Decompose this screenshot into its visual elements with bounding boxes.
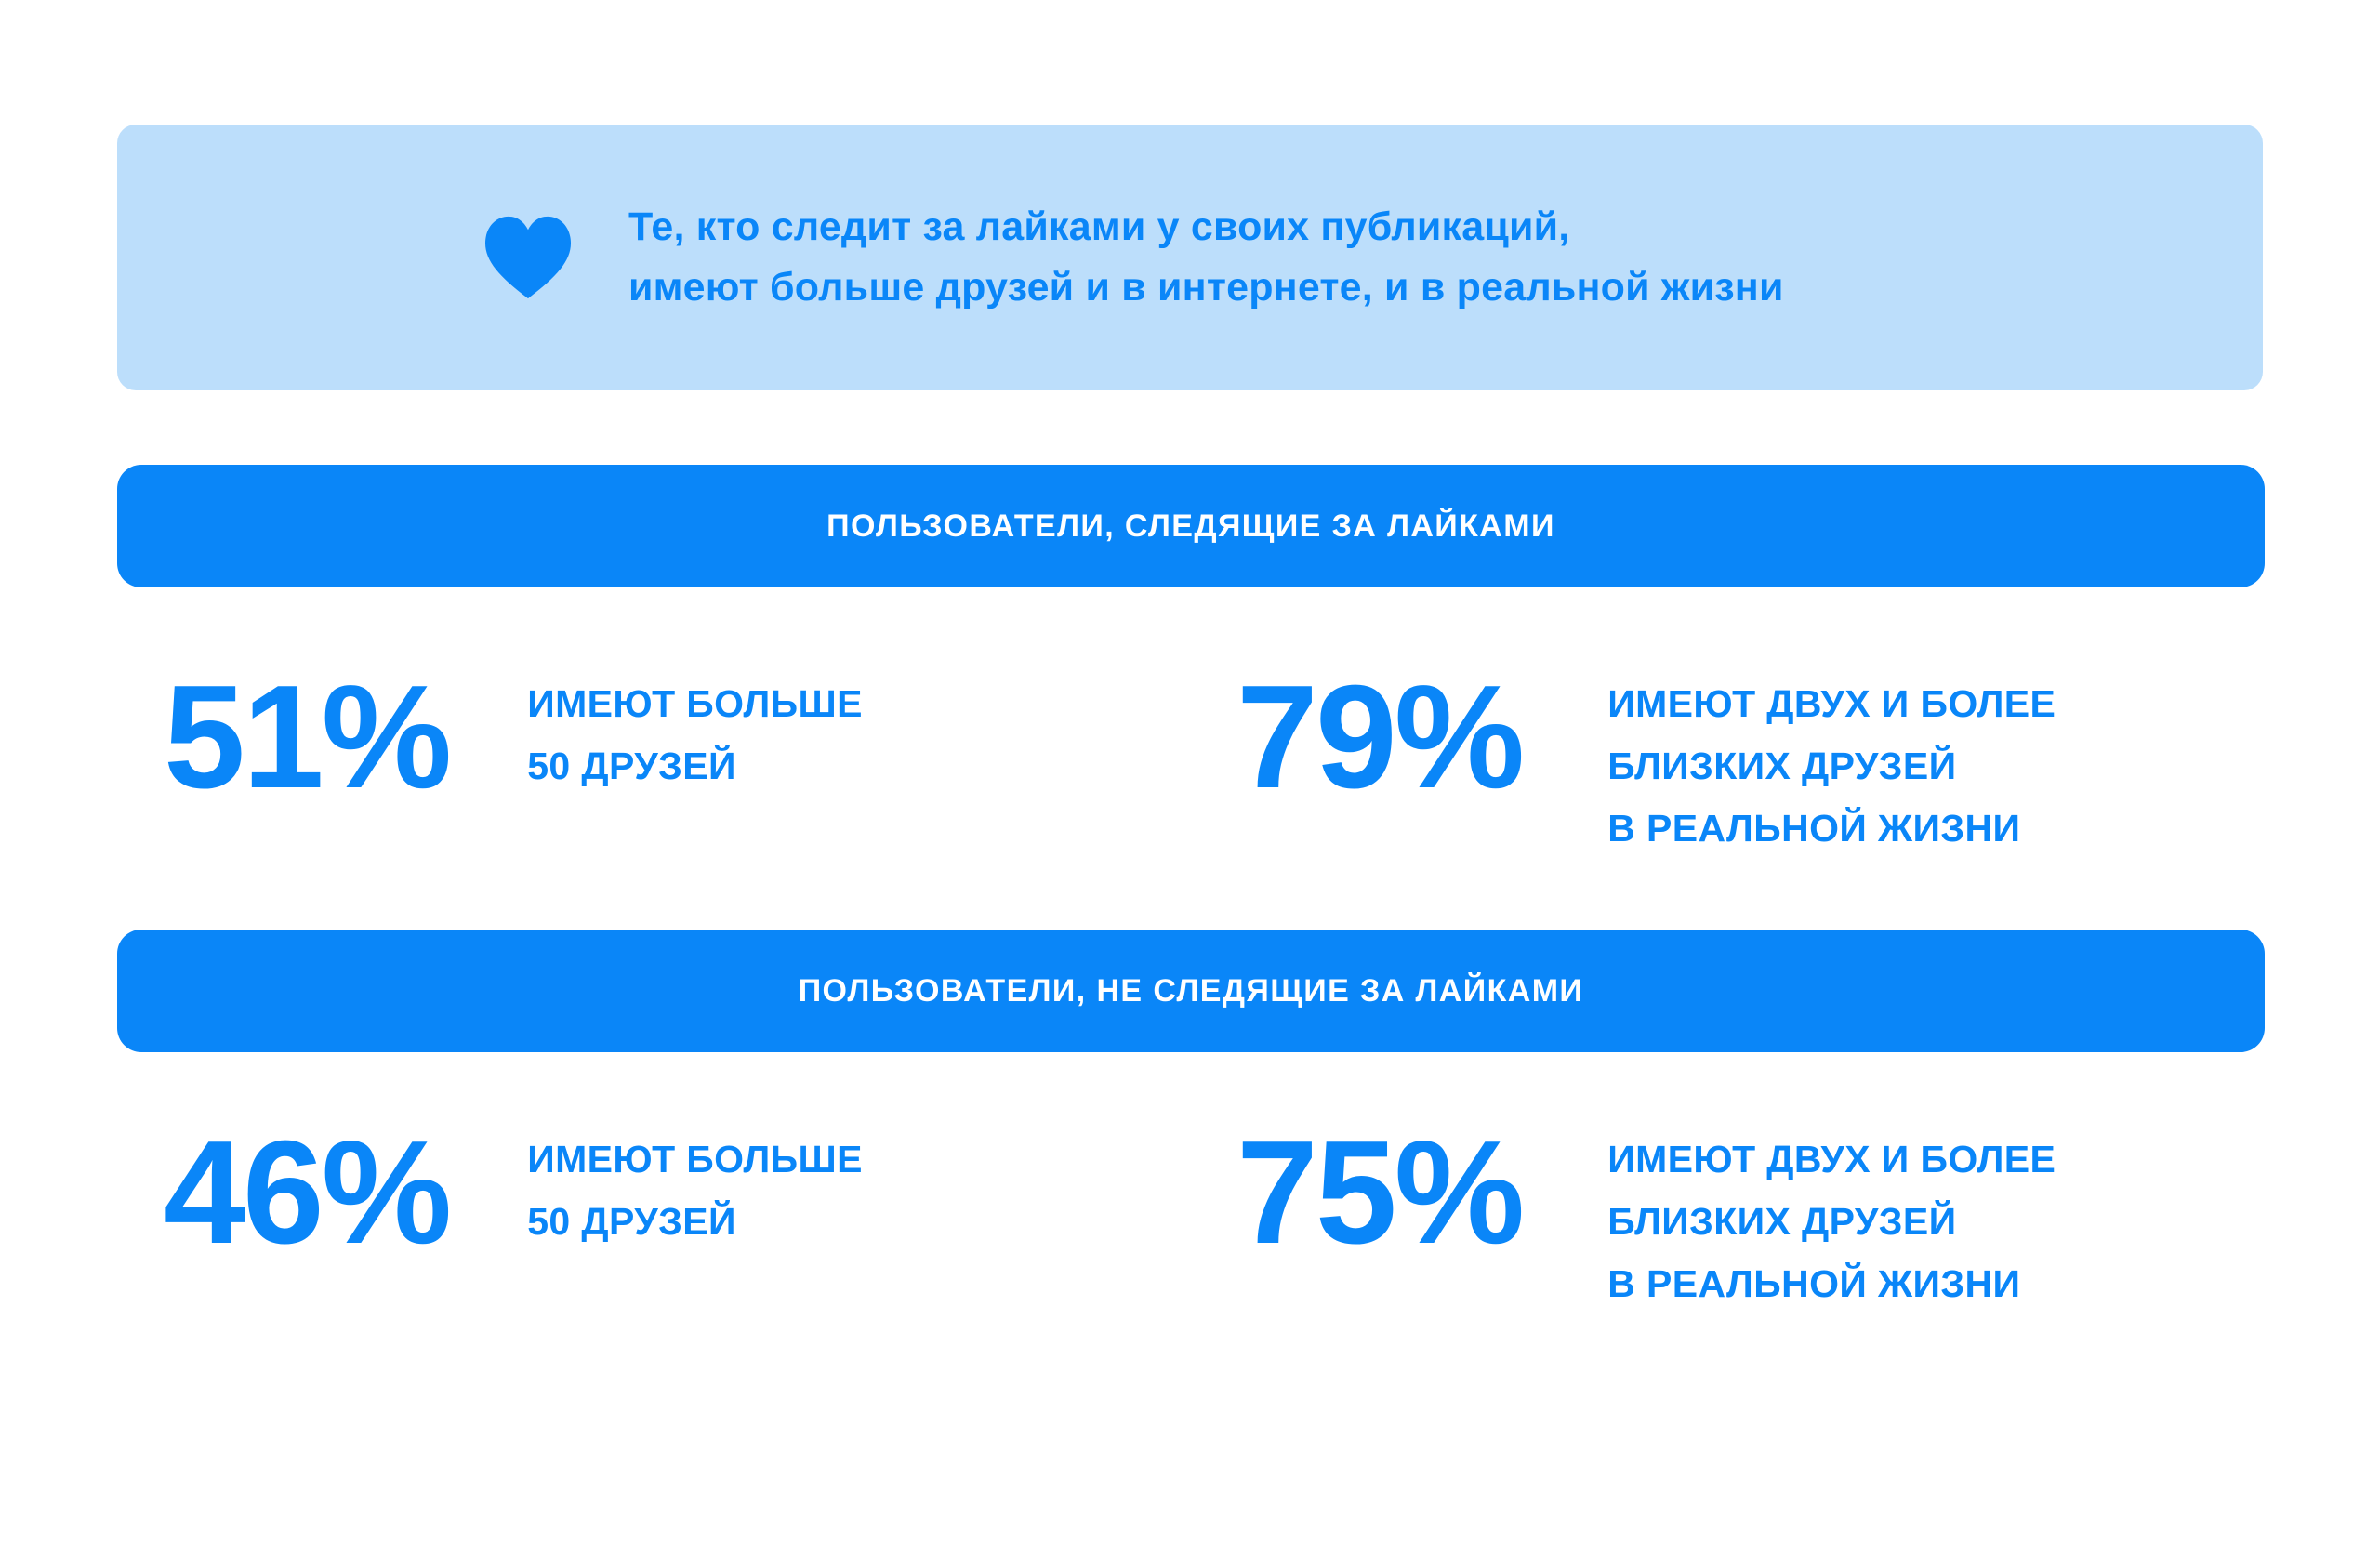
stat-value: 46%	[164, 1119, 449, 1266]
stat-label-line-1: ИМЕЮТ ДВУХ И БОЛЕЕ	[1607, 1128, 2056, 1191]
stat-label-line-2: БЛИЗКИХ ДРУЗЕЙ	[1607, 1191, 2056, 1253]
stat-value: 51%	[164, 664, 449, 811]
stat-block: 79% ИМЕЮТ ДВУХ И БОЛЕЕ БЛИЗКИХ ДРУЗЕЙ В …	[1236, 651, 2056, 859]
callout-inner: Те, кто следит за лайками у своих публик…	[483, 197, 1784, 319]
stat-label: ИМЕЮТ ДВУХ И БОЛЕЕ БЛИЗКИХ ДРУЗЕЙ В РЕАЛ…	[1607, 1128, 2056, 1314]
stat-label: ИМЕЮТ БОЛЬШЕ 50 ДРУЗЕЙ	[527, 673, 863, 798]
stat-label-line-3: В РЕАЛЬНОЙ ЖИЗНИ	[1607, 1253, 2056, 1315]
callout-line-1: Те, кто следит за лайками у своих публик…	[628, 197, 1784, 257]
stat-label-line-3: В РЕАЛЬНОЙ ЖИЗНИ	[1607, 798, 2056, 860]
stat-block: 46% ИМЕЮТ БОЛЬШЕ 50 ДРУЗЕЙ	[164, 1106, 863, 1266]
stat-row-non-followers: 46% ИМЕЮТ БОЛЬШЕ 50 ДРУЗЕЙ 75% ИМЕЮТ ДВУ…	[0, 1106, 2380, 1348]
stat-block: 75% ИМЕЮТ ДВУХ И БОЛЕЕ БЛИЗКИХ ДРУЗЕЙ В …	[1236, 1106, 2056, 1314]
stat-label: ИМЕЮТ ДВУХ И БОЛЕЕ БЛИЗКИХ ДРУЗЕЙ В РЕАЛ…	[1607, 673, 2056, 859]
stat-block: 51% ИМЕЮТ БОЛЬШЕ 50 ДРУЗЕЙ	[164, 651, 863, 811]
heart-icon	[483, 215, 573, 300]
stat-label-line-2: 50 ДРУЗЕЙ	[527, 1191, 863, 1253]
callout-line-2: имеют больше друзей и в интернете, и в р…	[628, 257, 1784, 318]
stat-label-line-2: БЛИЗКИХ ДРУЗЕЙ	[1607, 735, 2056, 798]
section-bar-label: ПОЛЬЗОВАТЕЛИ, СЛЕДЯЩИЕ ЗА ЛАЙКАМИ	[826, 508, 1555, 545]
callout-text: Те, кто следит за лайками у своих публик…	[628, 197, 1784, 319]
stat-value: 79%	[1236, 664, 1522, 811]
infographic-page: Те, кто следит за лайками у своих публик…	[0, 0, 2380, 1556]
stat-label: ИМЕЮТ БОЛЬШЕ 50 ДРУЗЕЙ	[527, 1128, 863, 1253]
section-bar-non-followers: ПОЛЬЗОВАТЕЛИ, НЕ СЛЕДЯЩИЕ ЗА ЛАЙКАМИ	[117, 930, 2265, 1052]
stat-label-line-2: 50 ДРУЗЕЙ	[527, 735, 863, 798]
stat-value: 75%	[1236, 1119, 1522, 1266]
section-bar-followers: ПОЛЬЗОВАТЕЛИ, СЛЕДЯЩИЕ ЗА ЛАЙКАМИ	[117, 465, 2265, 587]
stat-label-line-1: ИМЕЮТ БОЛЬШЕ	[527, 673, 863, 735]
callout-banner: Те, кто следит за лайками у своих публик…	[117, 125, 2263, 390]
section-bar-label: ПОЛЬЗОВАТЕЛИ, НЕ СЛЕДЯЩИЕ ЗА ЛАЙКАМИ	[799, 973, 1584, 1009]
stat-label-line-1: ИМЕЮТ ДВУХ И БОЛЕЕ	[1607, 673, 2056, 735]
stat-label-line-1: ИМЕЮТ БОЛЬШЕ	[527, 1128, 863, 1191]
stat-row-followers: 51% ИМЕЮТ БОЛЬШЕ 50 ДРУЗЕЙ 79% ИМЕЮТ ДВУ…	[0, 651, 2380, 892]
